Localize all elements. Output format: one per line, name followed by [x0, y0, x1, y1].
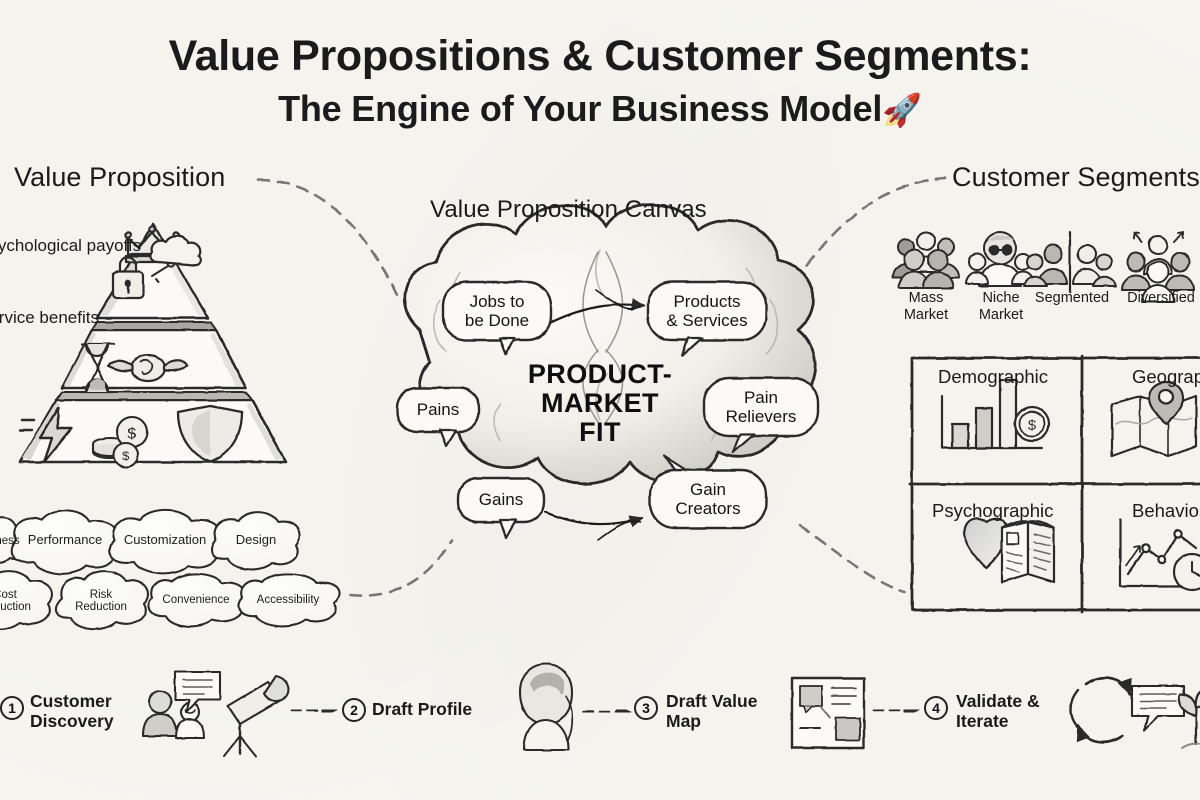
vp-tag-accessibility-label: Accessibility [257, 594, 320, 606]
grid-label-geographic: Geographic [1132, 366, 1200, 388]
pmf-line-1: PRODUCT- [528, 359, 672, 389]
svg-text:$: $ [1028, 417, 1037, 434]
step-label-line: Validate & [956, 691, 1040, 711]
vp-tag-risk-reduction-label: RiskReduction [75, 589, 127, 614]
step-label-line: Customer [30, 691, 112, 711]
canvas-bubble-gain-creators[interactable]: GainCreators [650, 470, 766, 528]
vp-tag-performance-label: Performance [28, 533, 102, 547]
canvas-bubble-products-services[interactable]: Products& Services [648, 282, 766, 340]
bubble-line: Creators [675, 499, 740, 518]
step-number-2: 2 [342, 698, 366, 722]
segment-label-line: Diversified [1127, 290, 1195, 306]
segment-label-line: Niche [982, 290, 1019, 306]
grid-label-psychographic: Psychographic [932, 500, 1053, 522]
step-label-line: Draft Profile [372, 699, 472, 719]
vp-tag-convenience[interactable]: Convenience [150, 582, 242, 618]
segment-label-mass-market: MassMarket [886, 290, 966, 323]
segment-label-segmented: Segmented [1030, 290, 1114, 307]
step-label-draft-value-map: Draft ValueMap [666, 692, 786, 732]
canvas-bubble-pains[interactable]: Pains [397, 388, 479, 432]
bubble-line: & Services [666, 311, 747, 330]
page-title-line2: The Engine of Your Business Model🚀 [0, 88, 1200, 130]
vp-tag-design-label: Design [236, 533, 276, 547]
page-title-line2-text: The Engine of Your Business Model [278, 88, 882, 129]
segment-label-line: Segmented [1035, 290, 1109, 306]
step-label-draft-profile: Draft Profile [372, 700, 502, 720]
vp-tag-performance[interactable]: Performance [16, 520, 114, 560]
bubble-line: Relievers [726, 407, 797, 426]
whiteboard-canvas: $ $ [0, 0, 1200, 800]
vp-tag-convenience-label: Convenience [162, 594, 229, 606]
step-label-line: Draft Value [666, 691, 757, 711]
pyramid-label-psychological-payoffs: Psychological payoffs [0, 236, 141, 255]
segment-label-diversified: Diversified [1118, 290, 1200, 307]
canvas-bubble-pain-relievers[interactable]: PainRelievers [704, 378, 818, 436]
bubble-line: be Done [465, 311, 529, 330]
bubble-line: Gain [690, 480, 726, 499]
segment-label-line: Market [904, 307, 948, 323]
section-heading-value-proposition: Value Proposition [14, 162, 225, 193]
step-label-line: Map [666, 711, 701, 731]
bubble-line: Pain [744, 388, 778, 407]
segment-label-niche-market: NicheMarket [962, 290, 1040, 323]
canvas-bubble-jobs-to-be-done[interactable]: Jobs tobe Done [443, 282, 551, 340]
vp-tag-newness-label: Newness [0, 535, 20, 547]
bubble-line: Jobs to [470, 292, 525, 311]
bubble-line: Gains [479, 490, 523, 509]
grid-label-demographic: Demographic [938, 366, 1048, 388]
svg-text:$: $ [128, 425, 137, 442]
vp-tag-accessibility[interactable]: Accessibility [240, 582, 336, 618]
step-label-line: Iterate [956, 711, 1009, 731]
vp-tag-customization-label: Customization [124, 533, 206, 547]
step-number-4: 4 [924, 696, 948, 720]
pyramid-label-service-benefits: Service benefits [0, 308, 99, 327]
rocket-emoji: 🚀 [882, 92, 922, 128]
bubble-line: Products [673, 292, 740, 311]
segment-label-line: Mass [909, 290, 944, 306]
step-number-1: 1 [0, 696, 24, 720]
section-heading-customer-segments: Customer Segments [952, 162, 1200, 193]
pmf-line-2: MARKET [541, 388, 659, 418]
product-market-fit-label: PRODUCT- MARKET FIT [505, 360, 695, 447]
vp-tag-risk-reduction[interactable]: RiskReduction [58, 580, 144, 622]
canvas-bubble-gains[interactable]: Gains [458, 478, 544, 522]
segment-label-line: Market [979, 307, 1023, 323]
grid-label-behavioral: Behavioral [1132, 500, 1200, 522]
vp-tag-design[interactable]: Design [216, 520, 296, 560]
vp-tag-cost-reduction[interactable]: CostReduction [0, 580, 48, 622]
pmf-line-3: FIT [579, 417, 621, 447]
svg-text:$: $ [123, 449, 130, 463]
bubble-line: Pains [417, 400, 460, 419]
step-number-3: 3 [634, 696, 658, 720]
step-label-line: Discovery [30, 711, 114, 731]
vp-tag-customization[interactable]: Customization [114, 520, 216, 560]
step-label-customer-discovery: CustomerDiscovery [30, 692, 140, 732]
vp-tag-cost-reduction-label: CostReduction [0, 589, 31, 614]
page-title-line1: Value Propositions & Customer Segments: [0, 32, 1200, 81]
step-label-validate-iterate: Validate &Iterate [956, 692, 1068, 732]
section-heading-value-proposition-canvas: Value Proposition Canvas [430, 196, 707, 224]
